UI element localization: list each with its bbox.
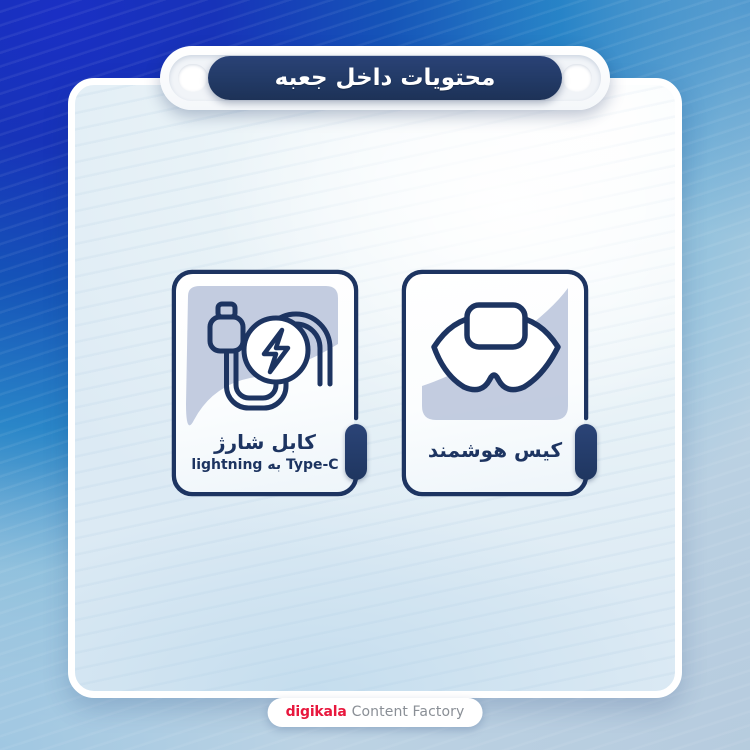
card-surface: کابل شارژ Type-C به lightning	[176, 274, 354, 492]
banner-hole-left-icon	[178, 64, 208, 92]
card-label: کیس هوشمند	[428, 438, 562, 462]
card-label: کابل شارژ	[214, 430, 316, 454]
card-pin-marker	[345, 424, 367, 480]
card-icon-area	[176, 280, 354, 430]
smart-eye-mask-case-icon	[420, 295, 570, 415]
list-item[interactable]: کیس هوشمند	[400, 268, 590, 498]
box-contents-list: کابل شارژ Type-C به lightning	[170, 268, 590, 498]
badge-subtitle: Content Factory	[352, 704, 465, 720]
digikala-logo-text: digikala	[286, 704, 347, 720]
card-label-area: کابل شارژ Type-C به lightning	[176, 420, 354, 482]
digikala-content-factory-badge: digikala Content Factory	[268, 698, 483, 727]
charging-cable-icon	[190, 286, 340, 424]
card-label-area: کیس هوشمند	[406, 420, 584, 482]
page-title: محتویات داخل جعبه	[275, 65, 496, 91]
card-icon-area	[406, 280, 584, 430]
card-surface: کیس هوشمند	[406, 274, 584, 492]
list-item[interactable]: کابل شارژ Type-C به lightning	[170, 268, 360, 498]
title-pill: محتویات داخل جعبه	[208, 56, 562, 100]
card-pin-marker	[575, 424, 597, 480]
banner-hole-right-icon	[562, 64, 592, 92]
page-title-banner: محتویات داخل جعبه	[160, 46, 610, 110]
card-sublabel: Type-C به lightning	[191, 457, 338, 473]
